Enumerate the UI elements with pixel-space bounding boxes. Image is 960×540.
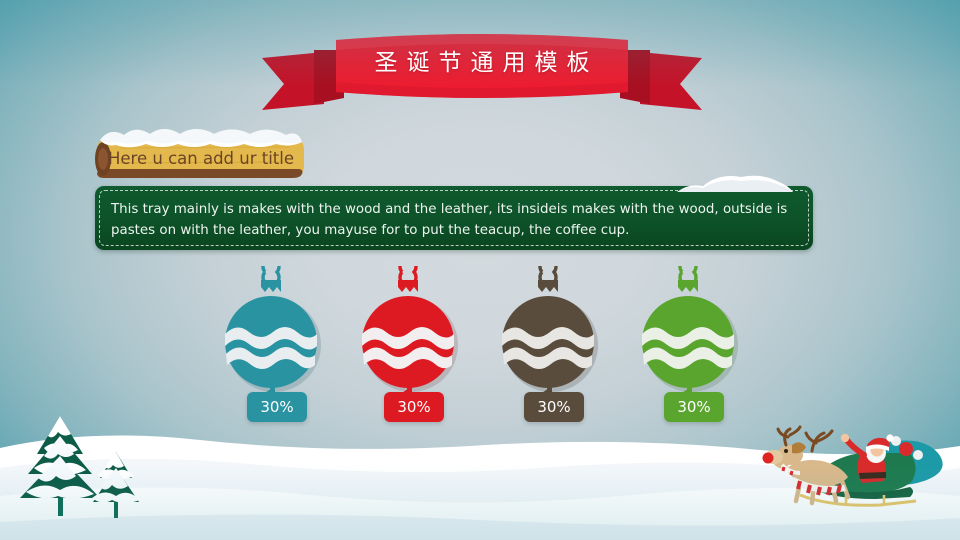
description-box: This tray mainly is makes with the wood … [95,186,813,250]
red-ornament[interactable]: 30% [342,266,474,426]
description-text: This tray mainly is makes with the wood … [111,199,797,241]
slide-canvas: 圣诞节通用模板 Here u can add ur title This tra… [0,0,960,540]
teal-ornament[interactable]: 30% [205,266,337,426]
brown-ornament[interactable]: 30% [482,266,614,426]
santa-sleigh-reindeer [760,425,960,510]
log-title-text: Here u can add ur title [108,149,308,168]
snow-pile-icon [675,173,795,193]
green-ornament[interactable]: 30% [622,266,754,426]
ribbon-banner: 圣诞节通用模板 [262,30,702,112]
snow-covered-pine-trees [8,410,158,522]
banner-title: 圣诞节通用模板 [262,30,702,92]
wood-log-title-bar: Here u can add ur title [90,128,306,182]
